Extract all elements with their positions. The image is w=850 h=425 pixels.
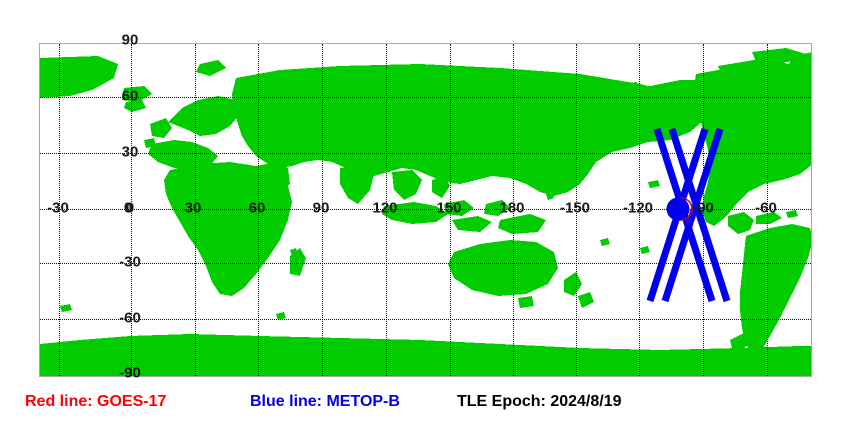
lon-tick--60: -60	[755, 201, 777, 216]
lat-tick-0: 0	[124, 201, 132, 216]
lon-tick-150: 150	[436, 201, 461, 216]
lon-tick--150: -150	[560, 201, 590, 216]
lon-tick-180: 180	[499, 201, 524, 216]
legend-bar: Red line: GOES-17 Blue line: METOP-B TLE…	[0, 392, 850, 425]
legend-blue-line-metopb: Blue line: METOP-B	[250, 392, 400, 412]
legend-tle-epoch: TLE Epoch: 2024/8/19	[457, 392, 622, 412]
lon-tick-120: 120	[372, 201, 397, 216]
lon-tick--30: -30	[47, 201, 69, 216]
lat-tick--90: -90	[119, 366, 141, 381]
lon-tick-30: 30	[185, 201, 202, 216]
lat-tick-60: 60	[122, 89, 139, 104]
metop-b-position-marker	[667, 198, 690, 221]
lat-tick--60: -60	[119, 311, 141, 326]
lon-tick-60: 60	[249, 201, 266, 216]
lon-tick--90: -90	[692, 201, 714, 216]
lat-tick--30: -30	[119, 255, 141, 270]
lon-tick--120: -120	[623, 201, 653, 216]
satellite-ground-track-map: -30 0 30 60 90 120 150 180 -150 -120 -90…	[0, 0, 850, 425]
metop-b-ground-tracks	[650, 129, 727, 301]
lon-tick-90: 90	[313, 201, 330, 216]
legend-red-line-goes17: Red line: GOES-17	[25, 392, 166, 412]
lat-tick-30: 30	[122, 145, 139, 160]
lat-tick-90: 90	[122, 33, 139, 48]
